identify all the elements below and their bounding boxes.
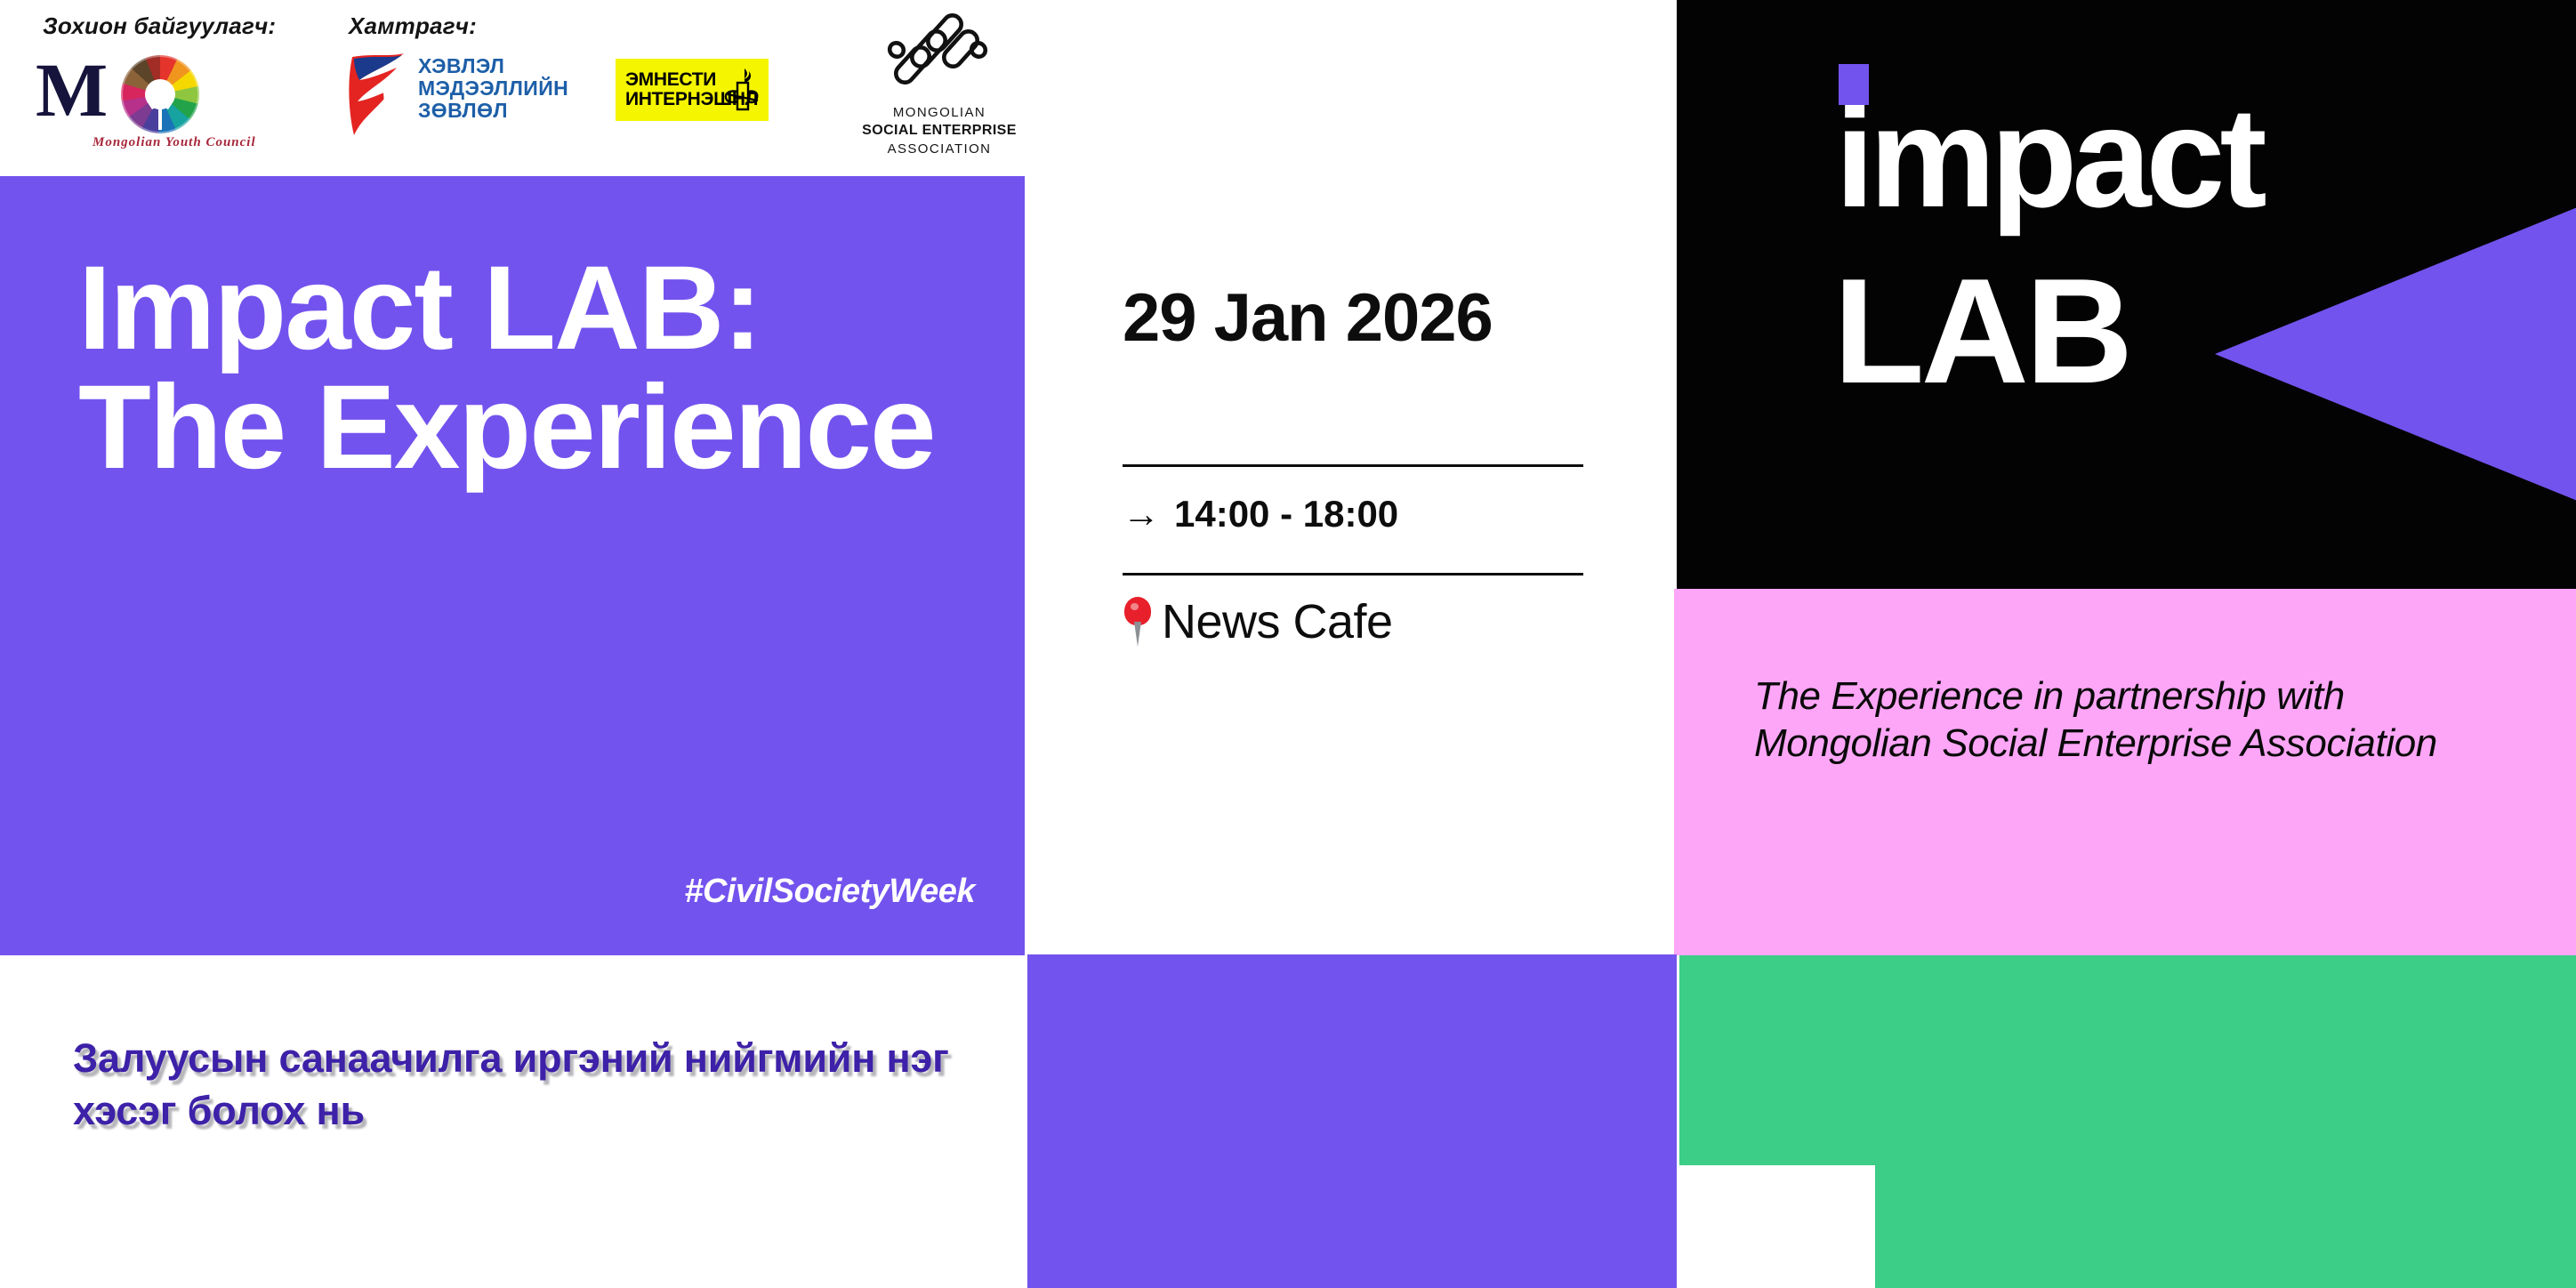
event-hashtag: #CivilSocietyWeek	[684, 873, 975, 911]
event-time-row: → 14:00 - 18:00	[1123, 493, 1398, 535]
event-details-card: 29 Jan 2026 → 14:00 - 18:00 News Cafe	[1032, 176, 1674, 955]
event-poster: Зохион байгуулагч: Хамтрагч: M C Mongoli…	[0, 0, 2576, 1288]
event-date: 29 Jan 2026	[1123, 283, 1621, 354]
partnership-panel: The Experience in partnership with Mongo…	[1674, 589, 2576, 955]
decor-block-purple	[1027, 954, 1677, 1288]
msea-abstract-mark-icon	[884, 9, 994, 101]
amnesty-candle-icon	[722, 67, 760, 113]
location-pin-icon	[1123, 597, 1153, 647]
myc-person-icon	[144, 80, 176, 132]
organizer-label: Зохион байгуулагч:	[43, 12, 276, 40]
msea-line-3: ASSOCIATION	[850, 141, 1028, 157]
divider-above-time	[1123, 464, 1583, 467]
sponsor-header-strip: Зохион байгуулагч: Хамтрагч: M C Mongoli…	[0, 0, 1032, 176]
press-council-flag-icon	[345, 52, 411, 141]
event-venue-row: News Cafe	[1123, 594, 1393, 649]
hero-title-panel: Impact LAB: The Experience #CivilSociety…	[0, 176, 1025, 955]
brand-i-dot-accent	[1839, 64, 1869, 105]
partnership-text: The Experience in partnership with Mongo…	[1754, 672, 2501, 767]
brand-word-impact: impact	[1835, 93, 2262, 222]
brand-wedge-shape	[2215, 203, 2576, 505]
divider-below-time	[1123, 573, 1583, 576]
msea-line-1: MONGOLIAN	[850, 105, 1028, 120]
event-time: 14:00 - 18:00	[1174, 493, 1398, 535]
msea-line-2: SOCIAL ENTERPRISE	[850, 123, 1028, 139]
myc-tagline: Mongolian Youth Council	[93, 135, 256, 150]
partner-label: Хамтрагч:	[349, 12, 477, 40]
tagline-panel: Залуусын санаачилга иргэний нийгмийн нэг…	[0, 955, 1025, 1288]
msea-logo: MONGOLIAN SOCIAL ENTERPRISE ASSOCIATION	[850, 5, 1028, 164]
press-council-logo: ХЭВЛЭЛ МЭДЭЭЛЛИЙН ЗӨВЛӨЛ	[345, 48, 585, 146]
mongolian-tagline: Залуусын санаачилга иргэний нийгмийн нэг…	[73, 1032, 962, 1137]
decor-block-white-notch	[1679, 1165, 1875, 1288]
page-title: Impact LAB: The Experience	[78, 249, 968, 487]
event-venue: News Cafe	[1162, 594, 1393, 649]
press-council-name: ХЭВЛЭЛ МЭДЭЭЛЛИЙН ЗӨВЛӨЛ	[418, 55, 568, 122]
arrow-right-icon: →	[1123, 495, 1160, 533]
brand-word-lab: LAB	[1833, 256, 2129, 406]
mongolian-youth-council-logo: M C Mongolian Youth Council	[36, 50, 231, 157]
impact-lab-brand-panel: impact LAB	[1677, 0, 2576, 589]
amnesty-international-logo: ЭМНЕСТИ ИНТЕРНЭШНЛ	[616, 59, 769, 121]
